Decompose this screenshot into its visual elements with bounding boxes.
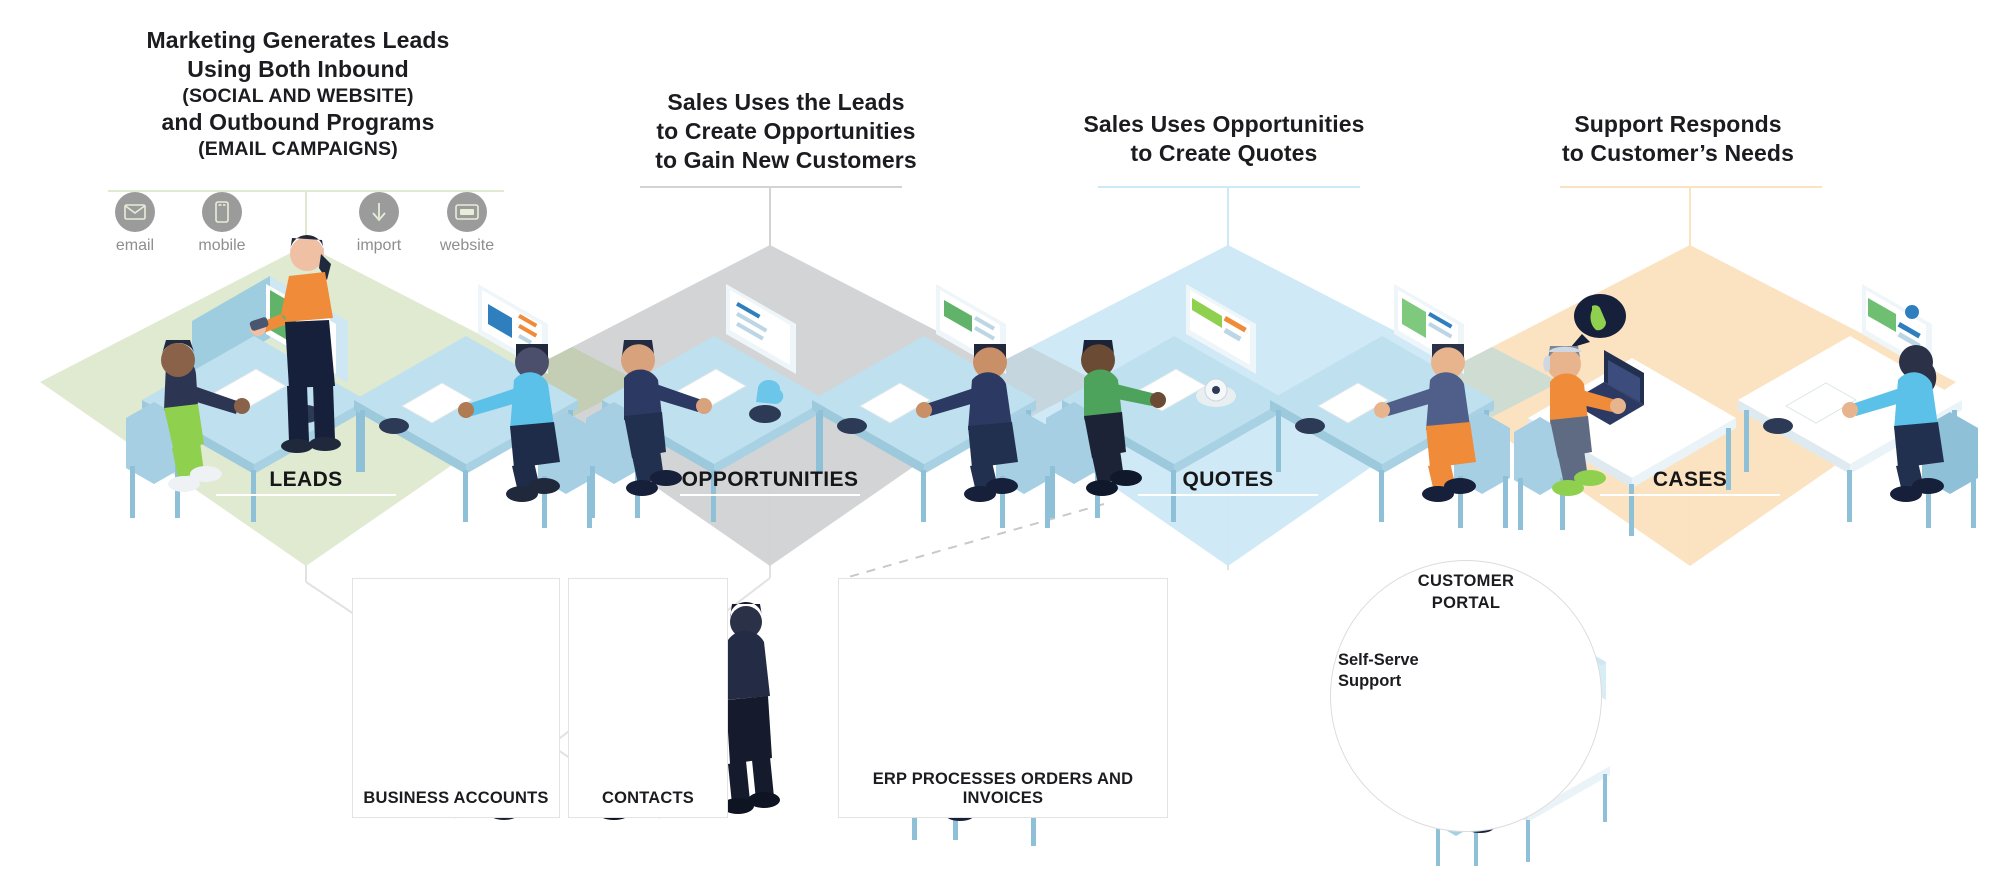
browser-window-icon-glyph (455, 203, 479, 221)
customer-portal-title-line2: PORTAL (1432, 594, 1500, 612)
heading-leads-line4: and Outbound Programs (88, 108, 508, 137)
card-contacts-caption: CONTACTS (569, 789, 727, 808)
heading-quotes-line1: Sales Uses Opportunities (1044, 110, 1404, 139)
browser-window-icon (447, 192, 487, 232)
node-rule-quotes (1138, 494, 1318, 496)
rule-quotes (1098, 186, 1360, 188)
channel-website[interactable]: website (436, 192, 498, 255)
mobile-phone-icon (202, 192, 242, 232)
heading-leads-line5: (EMAIL CAMPAIGNS) (88, 137, 508, 161)
node-label-leads[interactable]: LEADS (206, 468, 406, 492)
heading-leads-line1: Marketing Generates Leads (88, 26, 508, 55)
channel-email[interactable]: email (104, 192, 166, 255)
channel-email-label: email (104, 237, 166, 255)
channel-import-label: import (348, 237, 410, 255)
card-erp-caption: ERP PROCESSES ORDERS AND INVOICES (839, 770, 1167, 808)
heading-opportunities-line2: to Create Opportunities (596, 117, 976, 146)
card-business-accounts-caption: BUSINESS ACCOUNTS (353, 789, 559, 808)
channel-mobile[interactable]: mobile (191, 192, 253, 255)
connector-quotes-to-erp (845, 504, 1104, 578)
connector-lines-upper (306, 188, 1690, 250)
customer-portal-subtitle: Self-Serve Support (1338, 650, 1458, 693)
channel-import[interactable]: import (348, 192, 410, 255)
node-label-cases[interactable]: CASES (1590, 468, 1790, 492)
customer-portal-subtitle-line1: Self-Serve (1338, 651, 1419, 669)
node-rule-leads (216, 494, 396, 496)
customer-portal-subtitle-line2: Support (1338, 672, 1401, 690)
download-arrow-icon-glyph (369, 201, 389, 223)
card-contacts[interactable]: CONTACTS (568, 578, 728, 818)
customer-portal-title-line1: CUSTOMER (1418, 572, 1515, 590)
node-label-opportunities[interactable]: OPPORTUNITIES (670, 468, 870, 492)
lead-channel-icons: email mobile import (96, 192, 496, 262)
heading-opportunities-line1: Sales Uses the Leads (596, 88, 976, 117)
customer-portal-title: CUSTOMER PORTAL (1330, 570, 1602, 615)
heading-cases-line2: to Customer’s Needs (1498, 139, 1858, 168)
heading-cases-line1: Support Responds (1498, 110, 1858, 139)
node-rule-cases (1600, 494, 1780, 496)
heading-opportunities-line3: to Gain New Customers (596, 146, 976, 175)
node-rule-opportunities (680, 494, 860, 496)
heading-leads: Marketing Generates Leads Using Both Inb… (88, 26, 508, 161)
envelope-icon-glyph (124, 204, 146, 220)
diagram-canvas: Marketing Generates Leads Using Both Inb… (0, 0, 1996, 896)
heading-opportunities: Sales Uses the Leads to Create Opportuni… (596, 88, 976, 174)
heading-quotes-line2: to Create Quotes (1044, 139, 1404, 168)
heading-cases: Support Responds to Customer’s Needs (1498, 110, 1858, 168)
heading-quotes: Sales Uses Opportunities to Create Quote… (1044, 110, 1404, 168)
rule-cases (1560, 186, 1822, 188)
channel-website-label: website (436, 237, 498, 255)
heading-leads-line2: Using Both Inbound (88, 55, 508, 84)
mobile-phone-icon-glyph (215, 201, 229, 223)
rule-opportunities (640, 186, 902, 188)
heading-leads-line3: (SOCIAL AND WEBSITE) (88, 84, 508, 108)
envelope-icon (115, 192, 155, 232)
node-label-quotes[interactable]: QUOTES (1128, 468, 1328, 492)
channel-mobile-label: mobile (191, 237, 253, 255)
card-business-accounts[interactable]: BUSINESS ACCOUNTS (352, 578, 560, 818)
download-arrow-icon (359, 192, 399, 232)
card-erp[interactable]: ERP PROCESSES ORDERS AND INVOICES (838, 578, 1168, 818)
